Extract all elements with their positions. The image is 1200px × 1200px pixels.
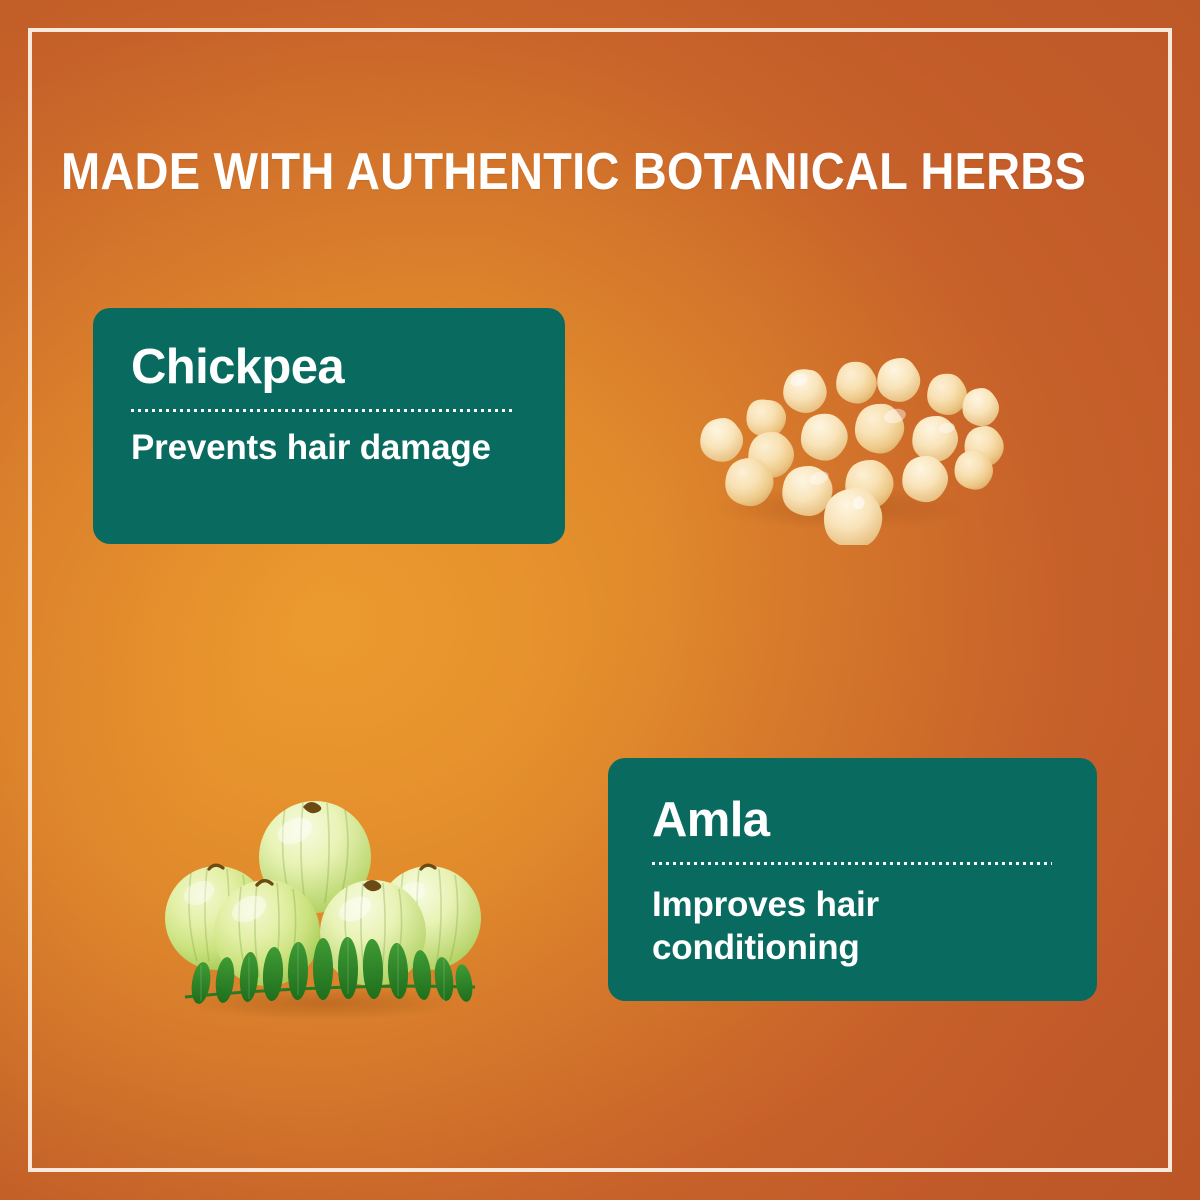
- ingredient-title: Amla: [652, 791, 1063, 849]
- page-title: MADE WITH AUTHENTIC BOTANICAL HERBS: [61, 142, 1047, 202]
- ingredient-description: Improves hair conditioning: [652, 883, 982, 969]
- dotted-divider: [652, 862, 1052, 865]
- dotted-divider: [131, 409, 516, 412]
- ingredient-card-chickpea: Chickpea Prevents hair damage: [93, 308, 565, 544]
- poster-canvas: MADE WITH AUTHENTIC BOTANICAL HERBS Chic…: [0, 0, 1200, 1200]
- amla-photo: [143, 785, 503, 1025]
- chickpeas-photo: [663, 300, 1023, 545]
- ingredient-title: Chickpea: [131, 338, 531, 396]
- ingredient-card-amla: Amla Improves hair conditioning: [608, 758, 1097, 1001]
- ingredient-description: Prevents hair damage: [131, 427, 531, 469]
